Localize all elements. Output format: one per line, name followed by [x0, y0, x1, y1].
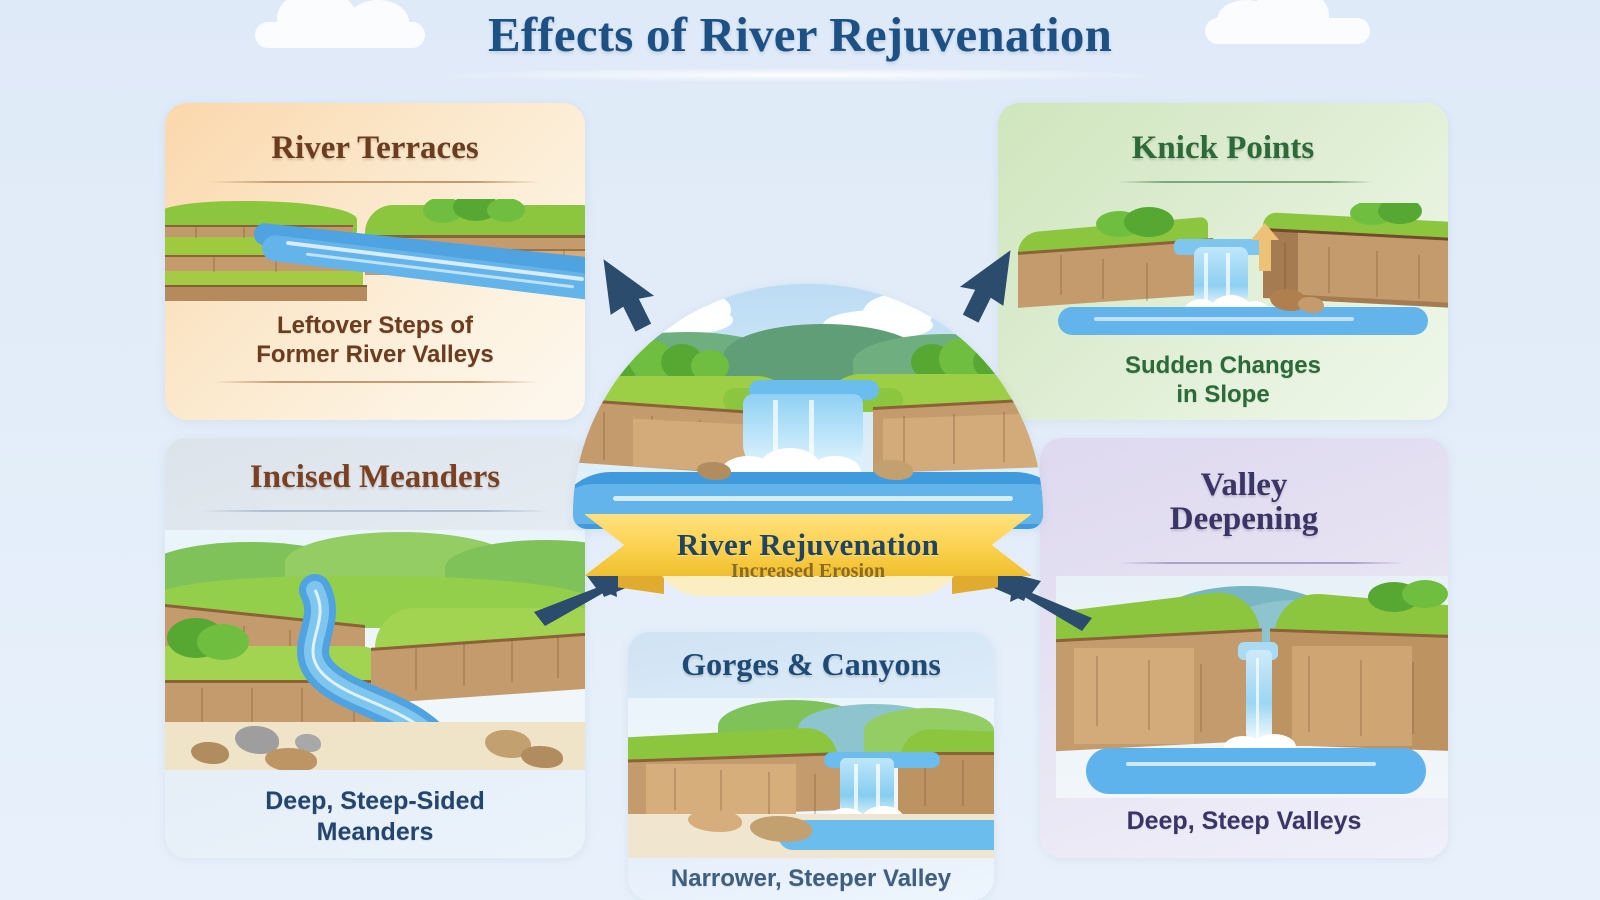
connector-arrows	[0, 0, 1600, 900]
arrow-to-knick-points	[958, 250, 1016, 324]
central-ribbon: River Rejuvenation Increased Erosion	[566, 500, 1050, 598]
ribbon-sublabel: Increased Erosion	[652, 560, 964, 583]
arrow-to-river-terraces	[599, 259, 657, 333]
